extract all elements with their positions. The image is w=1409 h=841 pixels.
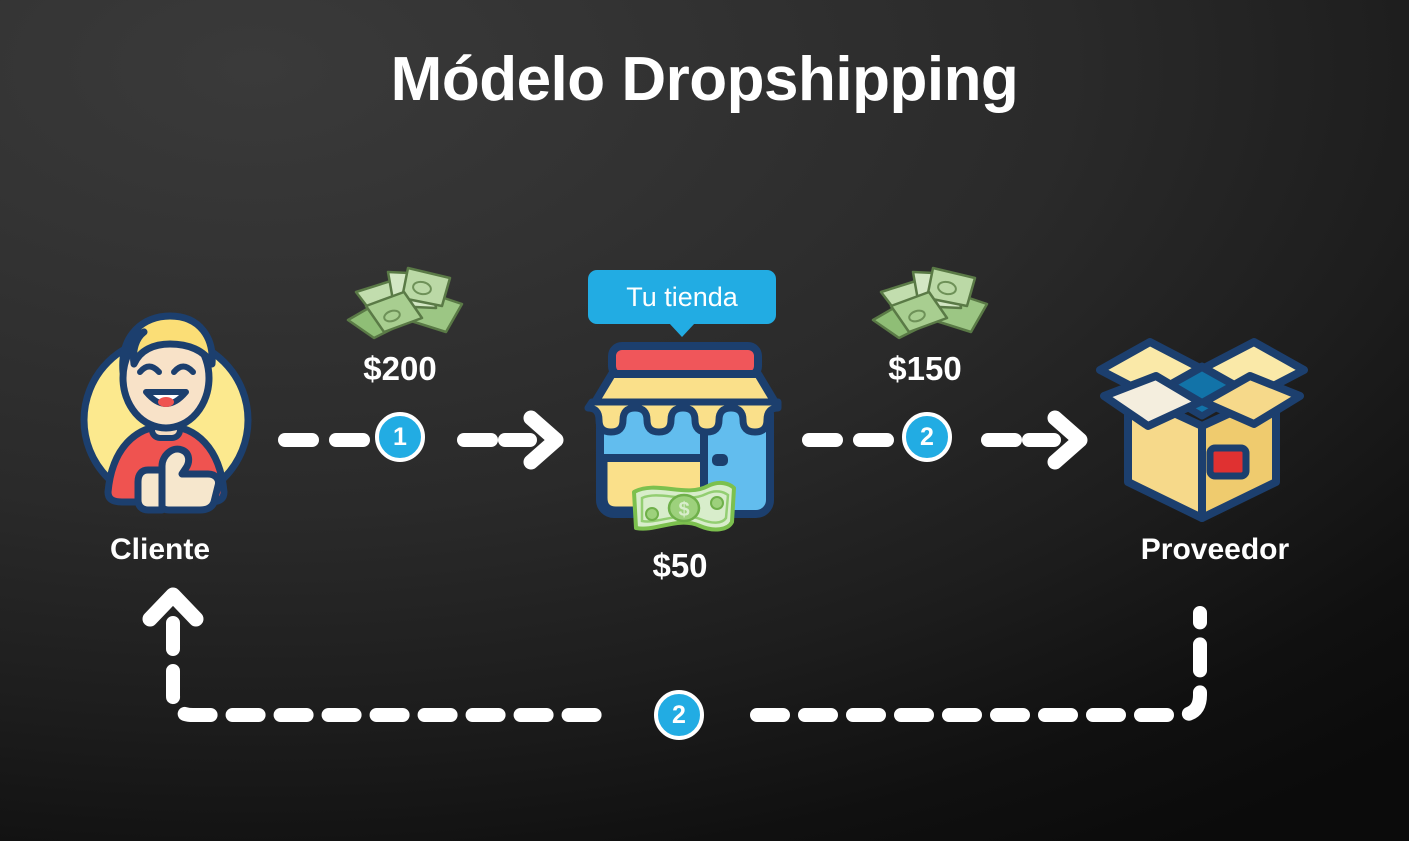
step-badge-1[interactable]: 1: [375, 412, 425, 462]
money-customer-pays: $200: [330, 262, 470, 388]
page-title: Módelo Dropshipping: [0, 44, 1409, 115]
store-tooltip[interactable]: Tu tienda: [588, 270, 776, 324]
step-badge-1-number: 1: [393, 425, 407, 450]
svg-text:$: $: [678, 499, 689, 521]
cash-stack-icon: [855, 262, 995, 348]
customer-label: Cliente: [60, 533, 260, 567]
money-amount-store-pays: $150: [855, 350, 995, 388]
diagram-canvas: Módelo Dropshipping Cliente: [0, 0, 1409, 841]
money-store-pays: $150: [855, 262, 995, 388]
store-tooltip-label: Tu tienda: [626, 282, 738, 313]
customer-thumbs-up-icon: [78, 310, 254, 510]
money-amount-customer-pays: $200: [330, 350, 470, 388]
step-badge-2-forward-number: 2: [920, 425, 934, 450]
single-banknote-icon: $: [630, 478, 738, 538]
money-amount-store-profit: $50: [610, 547, 750, 585]
open-box-icon: [1094, 330, 1310, 526]
cash-stack-icon: [330, 262, 470, 348]
step-badge-2-shipping[interactable]: 2: [654, 690, 704, 740]
step-badge-2-shipping-number: 2: [672, 703, 686, 728]
supplier-label: Proveedor: [1115, 533, 1315, 567]
step-badge-2-forward[interactable]: 2: [902, 412, 952, 462]
